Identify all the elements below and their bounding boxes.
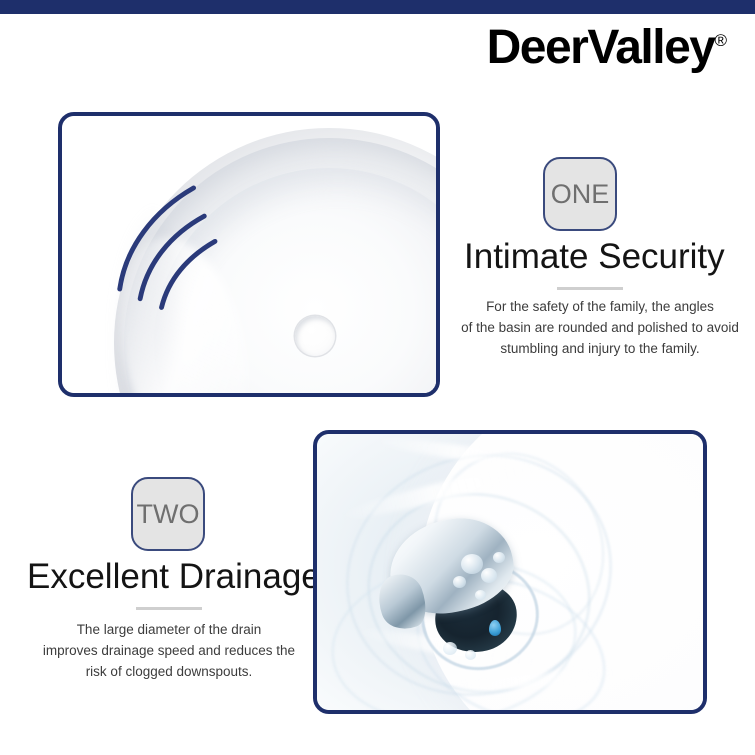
brand-name-part1: Deer	[487, 21, 588, 74]
feature-two-description: The large diameter of the drain improves…	[24, 620, 314, 683]
basin-illustration	[62, 116, 436, 393]
water-bubble	[493, 552, 505, 563]
top-accent-bar	[0, 0, 755, 14]
water-bubble	[461, 554, 483, 574]
water-bubble	[475, 590, 486, 600]
drain-illustration	[317, 434, 703, 710]
feature-two-divider	[136, 607, 202, 610]
water-bubble	[453, 576, 466, 588]
product-feature-infographic: DeerValley® ONE Intimate Security For th…	[0, 0, 755, 755]
blue-water-droplet	[489, 620, 501, 636]
water-bubble	[465, 650, 476, 660]
basin-drain-hole	[295, 316, 335, 356]
water-bubble	[481, 568, 497, 583]
feature-two-image-panel	[313, 430, 707, 714]
feature-one-description: For the safety of the family, the angles…	[455, 297, 745, 360]
feature-one-image-panel	[58, 112, 440, 397]
brand-logo: DeerValley®	[487, 24, 727, 72]
brand-name-part2: Valley	[587, 21, 714, 74]
feature-one-divider	[557, 287, 623, 290]
feature-one-heading: Intimate Security	[464, 238, 725, 277]
registered-trademark-icon: ®	[714, 31, 727, 50]
feature-two-heading: Excellent Drainage	[27, 558, 321, 597]
feature-two-number-badge: TWO	[131, 477, 205, 551]
water-bubble	[443, 642, 457, 655]
feature-one-number-badge: ONE	[543, 157, 617, 231]
